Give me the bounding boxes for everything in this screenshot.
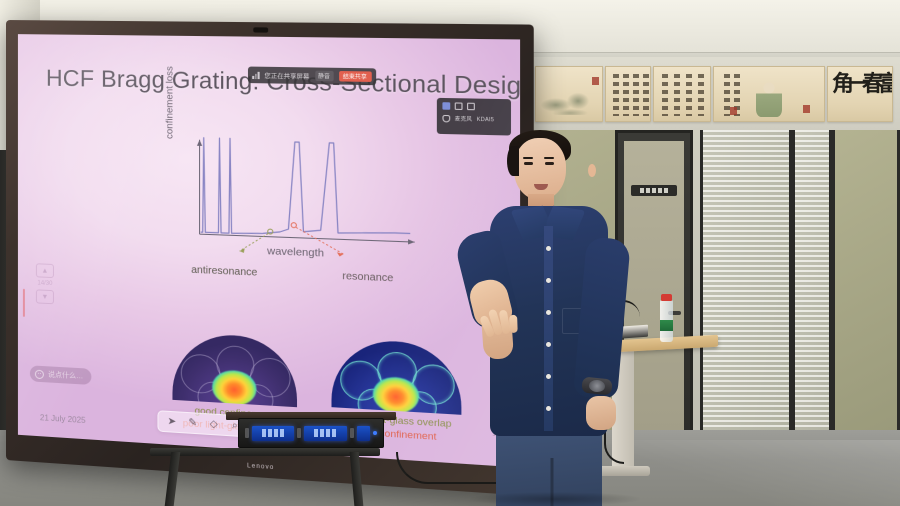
calligraphy-column bbox=[686, 74, 692, 116]
shirt-button bbox=[546, 406, 551, 411]
shirt-button bbox=[546, 310, 551, 315]
calligraphy-column bbox=[633, 74, 639, 116]
grid-view-icon[interactable] bbox=[467, 103, 475, 111]
head bbox=[514, 138, 566, 200]
presenter bbox=[462, 128, 642, 506]
finger bbox=[509, 315, 518, 333]
tv-stand-crossbar bbox=[150, 448, 380, 456]
calligraphy-column bbox=[662, 74, 668, 116]
bottle-label bbox=[660, 320, 673, 331]
chart-plot-area bbox=[170, 133, 428, 261]
calligraphy-column bbox=[674, 74, 680, 116]
cursor-icon[interactable]: ➤ bbox=[166, 415, 178, 429]
signal-bars-icon bbox=[252, 71, 259, 78]
watch-face bbox=[588, 379, 605, 393]
panel-device-row[interactable]: 麦克风 KDAI5 bbox=[442, 115, 505, 124]
chart-y-axis-label: confinement loss bbox=[164, 66, 175, 139]
eyebrow bbox=[544, 157, 554, 159]
glass-pane-blinds-b bbox=[792, 130, 832, 460]
scroll-art-wall: 角 一 春 富 bbox=[503, 57, 900, 132]
camera-icon bbox=[253, 27, 268, 32]
portrait-figure bbox=[756, 79, 782, 117]
microphone-icon[interactable] bbox=[442, 115, 450, 123]
slide-date: 21 July 2025 bbox=[40, 413, 86, 425]
fiber-cross-section-antiresonance: good confinement poor light-glass overla… bbox=[172, 332, 297, 407]
power-led bbox=[373, 431, 377, 435]
page-navigation[interactable]: ▲ 14/30 ▼ bbox=[34, 263, 56, 304]
ink-mountain-motif bbox=[540, 83, 598, 115]
chart-x-axis-label: wavelength bbox=[267, 245, 324, 260]
eye bbox=[545, 162, 554, 165]
scroll-large-calligraphy: 角 一 春 富 bbox=[827, 66, 893, 122]
scrollbar-thumb[interactable] bbox=[23, 289, 25, 317]
eye bbox=[524, 162, 533, 165]
comment-placeholder: 说点什么… bbox=[48, 369, 83, 381]
layout-icon[interactable] bbox=[455, 102, 463, 110]
mute-button[interactable]: 静音 bbox=[315, 71, 333, 82]
seal-stamp bbox=[803, 105, 810, 113]
page-down-button[interactable]: ▼ bbox=[36, 289, 54, 304]
annotation-resonance: resonance bbox=[342, 271, 393, 285]
rack-knob[interactable] bbox=[350, 428, 354, 438]
mic-label: 麦克风 bbox=[455, 115, 472, 123]
calligraphy-column bbox=[698, 74, 704, 116]
window-blinds bbox=[795, 130, 829, 460]
stop-share-button[interactable]: 结束共享 bbox=[339, 71, 372, 82]
window-blinds bbox=[703, 130, 789, 460]
glass-pane-blinds-a bbox=[700, 130, 792, 460]
shirt-button bbox=[546, 246, 551, 251]
right-hand bbox=[586, 396, 616, 430]
emoji-icon[interactable] bbox=[35, 369, 44, 379]
calligraphy-char: 富 bbox=[878, 73, 893, 95]
scroll-portrait-painting bbox=[713, 66, 825, 122]
shirt-button bbox=[546, 374, 551, 379]
frosted-glass-texture bbox=[835, 130, 897, 460]
shirt-button bbox=[546, 278, 551, 283]
share-status-label: 您正在共享屏幕 bbox=[264, 70, 309, 80]
presenter-shadow bbox=[470, 492, 640, 506]
scroll-landscape-painting bbox=[535, 66, 603, 122]
page-up-button[interactable]: ▲ bbox=[36, 263, 54, 278]
screen-share-bar[interactable]: 您正在共享屏幕 静音 结束共享 bbox=[248, 67, 376, 86]
calligraphy-column bbox=[623, 74, 629, 116]
glass-pane-right bbox=[832, 130, 900, 460]
ear bbox=[588, 164, 596, 177]
scroll-calligraphy-medium bbox=[653, 66, 711, 122]
shape-icon[interactable]: ◇ bbox=[207, 417, 220, 431]
presentation-screen[interactable]: HCF Bragg Grating: Cross-Sectional Desig… bbox=[18, 34, 520, 467]
mode-field-dome bbox=[331, 338, 461, 415]
eyebrow bbox=[523, 157, 533, 159]
wristwatch bbox=[581, 376, 613, 395]
bottle-cap bbox=[661, 294, 672, 301]
device-label: KDAI5 bbox=[477, 116, 494, 123]
left-hand-gesture bbox=[467, 276, 515, 330]
shirt-placket bbox=[544, 226, 553, 431]
annotation-antiresonance: antiresonance bbox=[191, 265, 257, 279]
rack-display-1 bbox=[252, 426, 295, 441]
hair-side bbox=[507, 146, 519, 176]
rack-display-2 bbox=[304, 426, 347, 441]
panel-icon-row[interactable] bbox=[442, 102, 505, 111]
rack-knob[interactable] bbox=[297, 428, 301, 438]
confinement-loss-chart: confinement loss wavelength bbox=[170, 133, 428, 277]
shirt-button bbox=[546, 342, 551, 347]
rack-knob[interactable] bbox=[245, 428, 249, 438]
av-rack-equipment[interactable] bbox=[238, 418, 384, 448]
calligraphy-column bbox=[613, 74, 619, 116]
pen-icon[interactable]: ✎ bbox=[187, 416, 200, 430]
page-counter: 14/30 bbox=[37, 280, 52, 287]
mode-field-dome bbox=[172, 332, 297, 407]
scroll-calligraphy-small bbox=[605, 66, 651, 122]
comment-input[interactable]: 说点什么… bbox=[30, 365, 91, 385]
rack-display-3 bbox=[357, 426, 371, 441]
calligraphy-column bbox=[643, 74, 649, 116]
minimize-icon[interactable] bbox=[442, 102, 450, 110]
fiber-cross-section-resonance: good light-glass overlap poor confinemen… bbox=[331, 338, 461, 415]
upper-wall bbox=[500, 0, 900, 58]
seal-stamp bbox=[592, 77, 599, 85]
tv-brand-logo: Lenovo bbox=[247, 463, 274, 471]
seal-stamp bbox=[730, 107, 737, 115]
